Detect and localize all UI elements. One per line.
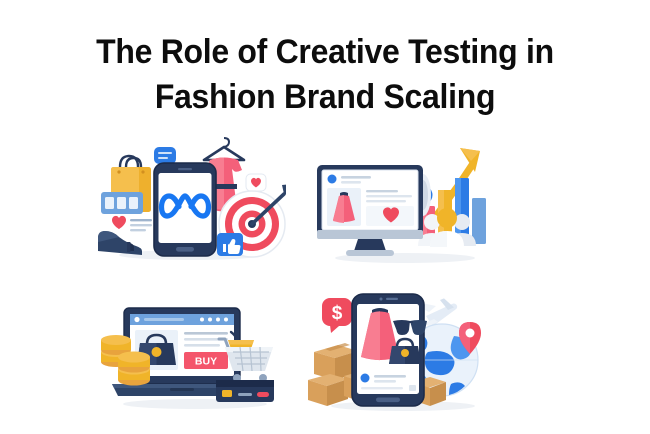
dollar-symbol: $ [332,303,343,324]
illustration-grid: BUY [0,130,650,420]
thumbs-up-icon [217,233,243,256]
heart-icon [112,216,126,229]
smartphone-device [352,294,427,406]
global-fashion-shipping-illustration: $ [308,288,498,418]
text-lines-icon [130,219,152,231]
browser-window [130,314,234,325]
slide-canvas: The Role of Creative Testing in Fashion … [0,0,650,434]
smartphone-device [154,163,216,256]
card-widget-icon [101,192,143,214]
post-avatar-icon [361,374,370,383]
buy-button[interactable]: BUY [184,352,228,369]
buy-button-label: BUY [195,355,217,367]
ecommerce-checkout-illustration: BUY [100,292,290,422]
post-avatar-icon [328,175,337,184]
page-title: The Role of Creative Testing in Fashion … [0,30,650,120]
dollar-badge-icon: $ [322,298,352,333]
meta-mobile-commerce-illustration [96,134,286,264]
high-heel-shoe-icon [98,231,142,255]
page-title-line-1: The Role of Creative Testing in [20,30,631,75]
desktop-monitor [317,165,423,256]
ad-post-dress-image [327,188,361,226]
social-ad-performance-illustration [310,138,500,268]
credit-card-icon [216,380,274,402]
page-title-line-2: Fashion Brand Scaling [20,75,631,120]
